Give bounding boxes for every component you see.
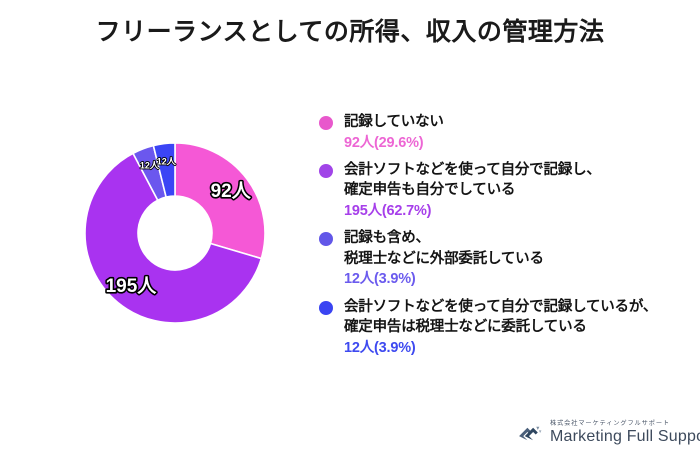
legend-item-label-line: 会計ソフトなどを使って自分で記録し、 xyxy=(344,160,696,181)
legend-item-value: 12人(3.9%) xyxy=(344,269,696,289)
legend-item-value: 12人(3.9%) xyxy=(344,338,696,358)
legend-item-label: 会計ソフトなどを使って自分で記録し、確定申告も自分でしている xyxy=(344,160,696,201)
legend-item[interactable]: 記録していない92人(29.6%) xyxy=(318,112,696,153)
chart-legend: 記録していない92人(29.6%)会計ソフトなどを使って自分で記録し、確定申告も… xyxy=(318,112,696,365)
legend-item-label: 記録も含め、税理士などに外部委託している xyxy=(344,228,696,269)
legend-item-value: 92人(29.6%) xyxy=(344,133,696,153)
company-name-en: Marketing Full Support xyxy=(550,429,700,445)
legend-item[interactable]: 会計ソフトなどを使って自分で記録し、確定申告も自分でしている195人(62.7%… xyxy=(318,160,696,221)
donut-slice-label: 195人 xyxy=(106,275,158,297)
logo-text-block: 株式会社マーケティングフルサポート Marketing Full Support xyxy=(550,421,700,445)
company-name-jp: 株式会社マーケティングフルサポート xyxy=(550,421,700,427)
legend-item-label: 記録していない xyxy=(344,112,696,133)
legend-item-label-line: 確定申告は税理士などに委託している xyxy=(344,317,696,338)
legend-bullet-icon xyxy=(319,164,333,178)
legend-item-label-line: 記録も含め、 xyxy=(344,228,696,249)
company-logo-icon xyxy=(517,420,543,446)
legend-item-label-line: 会計ソフトなどを使って自分で記録しているが、 xyxy=(344,297,696,318)
donut-slice-label: 12人 xyxy=(157,157,177,167)
legend-item[interactable]: 記録も含め、税理士などに外部委託している12人(3.9%) xyxy=(318,228,696,289)
legend-item-label-line: 税理士などに外部委託している xyxy=(344,249,696,270)
legend-bullet-icon xyxy=(319,232,333,246)
legend-item-label-line: 確定申告も自分でしている xyxy=(344,180,696,201)
legend-item-label: 会計ソフトなどを使って自分で記録しているが、確定申告は税理士などに委託している xyxy=(344,297,696,338)
footer-logo: 株式会社マーケティングフルサポート Marketing Full Support xyxy=(517,420,700,446)
legend-bullet-icon xyxy=(319,116,333,130)
legend-item-label-line: 記録していない xyxy=(344,112,696,133)
donut-slice-label: 92人 xyxy=(211,180,252,202)
legend-item-value: 195人(62.7%) xyxy=(344,201,696,221)
donut-chart-svg: 92人195人12人12人 xyxy=(70,128,280,338)
donut-chart: 92人195人12人12人 xyxy=(70,128,280,338)
legend-item[interactable]: 会計ソフトなどを使って自分で記録しているが、確定申告は税理士などに委託している1… xyxy=(318,297,696,358)
page-title: フリーランスとしての所得、収入の管理方法 xyxy=(0,12,700,48)
legend-bullet-icon xyxy=(319,301,333,315)
